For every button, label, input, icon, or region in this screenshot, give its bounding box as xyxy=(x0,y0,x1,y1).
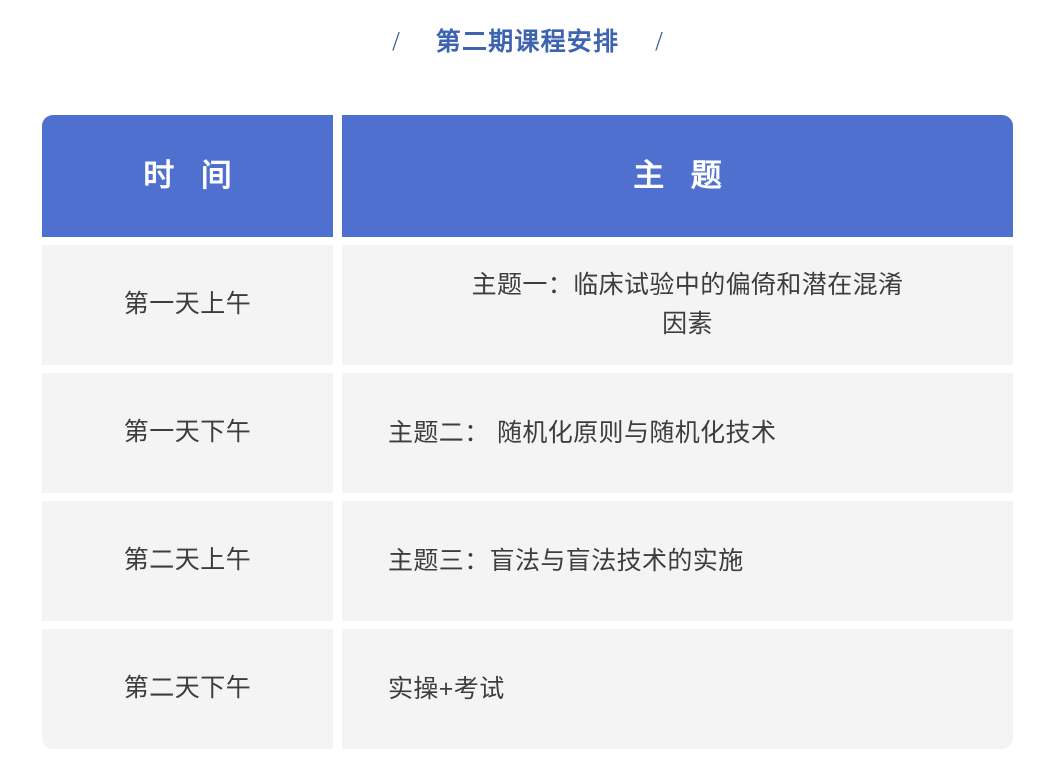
table-cell-topic: 主题三：盲法与盲法技术的实施 xyxy=(342,501,1013,621)
table-row: 第二天下午 实操+考试 xyxy=(42,629,1013,749)
column-header-topic-label: 主 题 xyxy=(624,157,731,194)
column-header-time-label: 时 间 xyxy=(134,157,241,194)
page-title: / 第二期课程安排 / xyxy=(0,18,1055,66)
schedule-table: 时 间 主 题 第一天上午 主题一：临床试验中的偏倚和潜在混淆 因素 第一天下午… xyxy=(42,115,1013,749)
table-cell-time: 第二天上午 xyxy=(42,501,333,621)
table-cell-time-label: 第二天下午 xyxy=(124,672,252,706)
column-header-time: 时 间 xyxy=(42,115,333,237)
table-cell-time: 第一天上午 xyxy=(42,245,333,365)
table-cell-topic-label: 实操+考试 xyxy=(388,670,987,709)
table-cell-time-label: 第二天上午 xyxy=(124,544,252,578)
table-row: 第一天下午 主题二： 随机化原则与随机化技术 xyxy=(42,373,1013,493)
table-cell-topic: 实操+考试 xyxy=(342,629,1013,749)
table-cell-topic: 主题二： 随机化原则与随机化技术 xyxy=(342,373,1013,493)
table-cell-time-label: 第一天下午 xyxy=(124,416,252,450)
table-header-row: 时 间 主 题 xyxy=(42,115,1013,237)
table-cell-time: 第一天下午 xyxy=(42,373,333,493)
course-schedule-page: / 第二期课程安排 / 时 间 主 题 第一天上午 主题一：临床试验中的偏倚和潜… xyxy=(0,0,1055,764)
title-slash-left-icon: / xyxy=(390,28,402,55)
table-cell-time-label: 第一天上午 xyxy=(124,288,252,322)
table-cell-topic-label: 主题一：临床试验中的偏倚和潜在混淆 因素 xyxy=(388,266,987,344)
table-row: 第一天上午 主题一：临床试验中的偏倚和潜在混淆 因素 xyxy=(42,245,1013,365)
table-cell-topic-label: 主题三：盲法与盲法技术的实施 xyxy=(388,542,987,581)
title-slash-right-icon: / xyxy=(653,28,665,55)
column-header-topic: 主 题 xyxy=(342,115,1013,237)
table-cell-time: 第二天下午 xyxy=(42,629,333,749)
table-cell-topic: 主题一：临床试验中的偏倚和潜在混淆 因素 xyxy=(342,245,1013,365)
page-title-text: 第二期课程安排 xyxy=(436,30,619,55)
table-row: 第二天上午 主题三：盲法与盲法技术的实施 xyxy=(42,501,1013,621)
table-cell-topic-label: 主题二： 随机化原则与随机化技术 xyxy=(388,414,987,453)
